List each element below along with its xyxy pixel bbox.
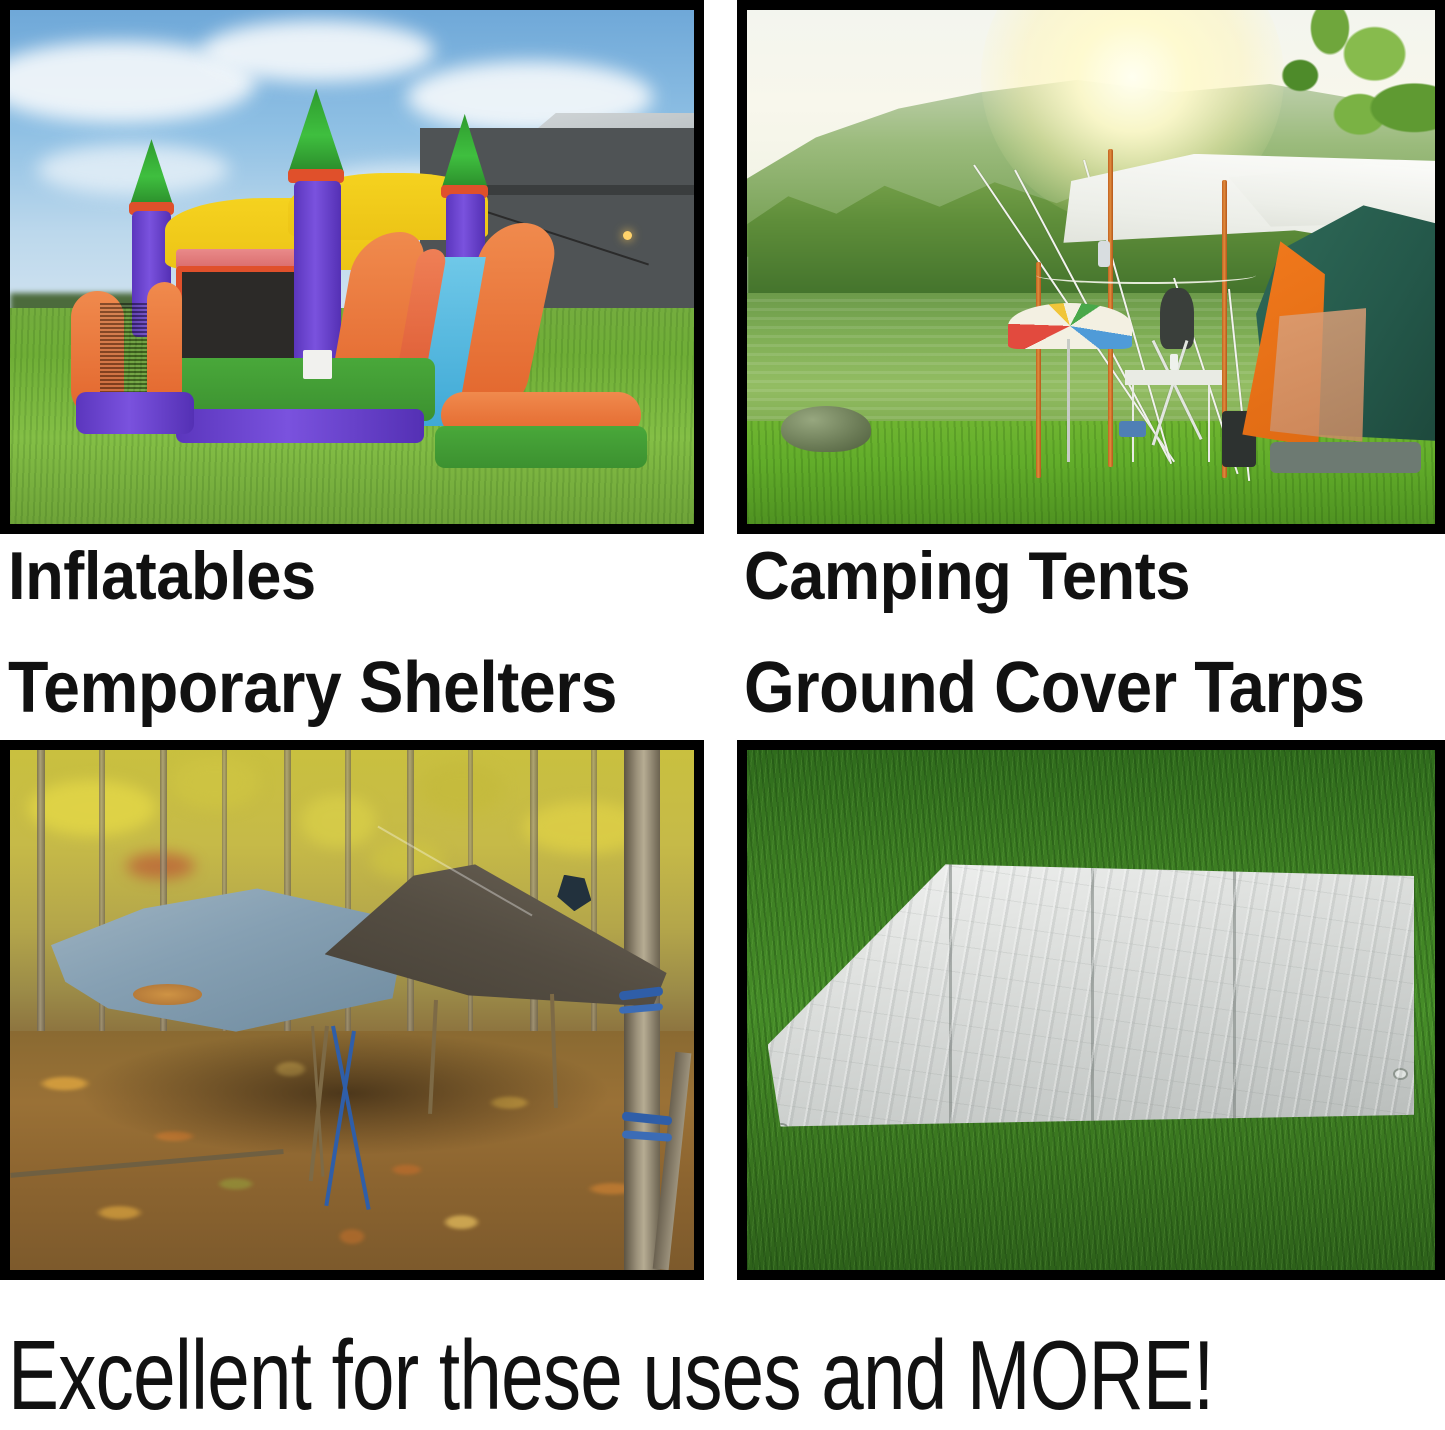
- footer-caption: Excellent for these uses and MORE!: [8, 1326, 1214, 1424]
- panel-label-ground-cover-tarps: Ground Cover Tarps: [744, 652, 1365, 724]
- silver-ground-tarp-photo: [747, 750, 1435, 1270]
- image-panel-shelters: [0, 740, 704, 1280]
- image-panel-groundcover: [737, 740, 1445, 1280]
- panel-label-camping: Camping Tents: [744, 542, 1190, 610]
- panel-label-temporary-shelters: Temporary Shelters: [8, 652, 617, 724]
- image-panel-camping: [737, 0, 1445, 534]
- lakeside-campsite-photo: [747, 10, 1435, 524]
- image-panel-inflatables: [0, 0, 704, 534]
- tarp-shelter-autumn-woods-photo: [10, 750, 694, 1270]
- panel-label-inflatables: Inflatables: [8, 542, 316, 610]
- inflatable-bounce-house-photo: [10, 10, 694, 524]
